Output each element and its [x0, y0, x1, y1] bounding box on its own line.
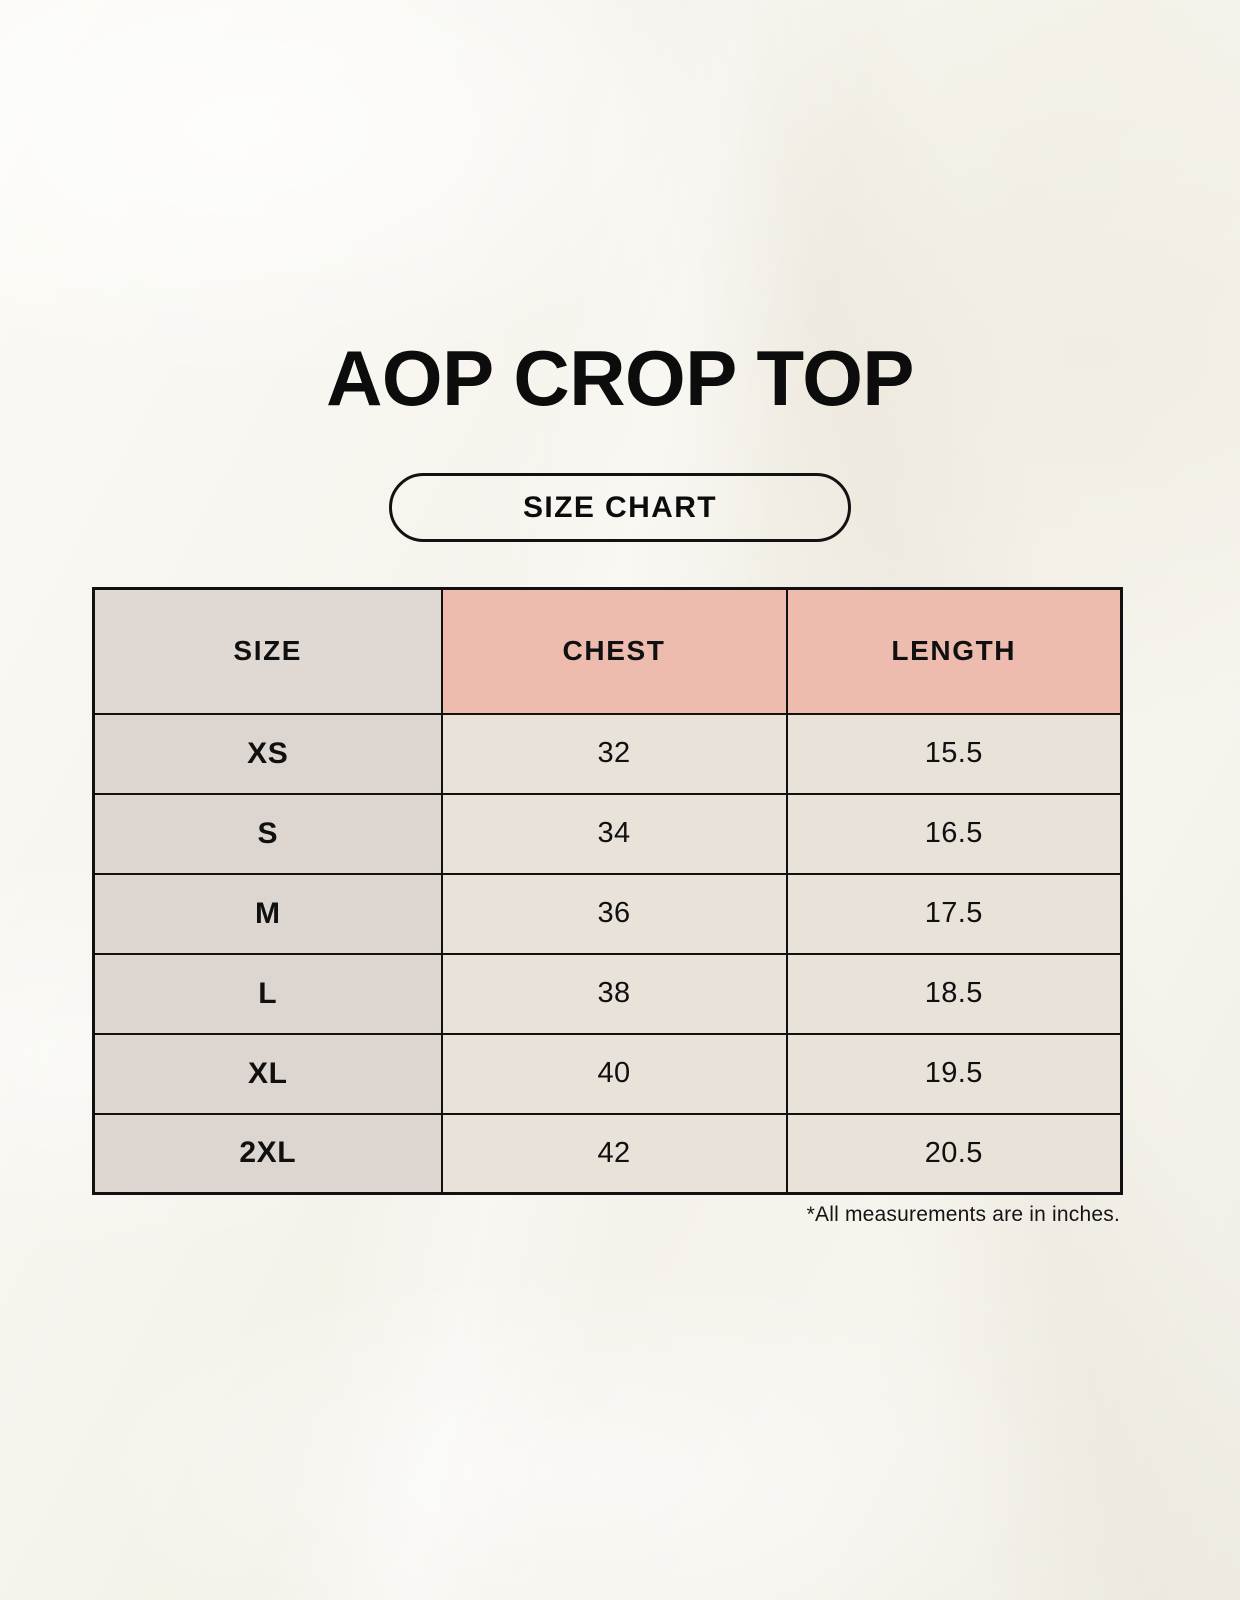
badge-container: SIZE CHART: [0, 473, 1240, 542]
cell-size-m: M: [94, 874, 442, 954]
table-row: 2XL 42 20.5: [94, 1114, 1122, 1194]
cell-size-2xl: 2XL: [94, 1114, 442, 1194]
table-row: XS 32 15.5: [94, 714, 1122, 794]
cell-chest-l: 38: [442, 954, 787, 1034]
table-row: XL 40 19.5: [94, 1034, 1122, 1114]
cell-size-xs: XS: [94, 714, 442, 794]
table-body: XS 32 15.5 S 34 16.5 M 36 17.5 L 38: [94, 714, 1122, 1194]
size-chart-page: AOP CROP TOP SIZE CHART SIZE CHEST LENGT…: [0, 0, 1240, 1600]
cell-length-m: 17.5: [787, 874, 1122, 954]
cell-size-xl: XL: [94, 1034, 442, 1114]
size-chart-table-container: SIZE CHEST LENGTH XS 32 15.5 S 34 16.5 M: [92, 587, 1120, 1195]
cell-length-xl: 19.5: [787, 1034, 1122, 1114]
cell-chest-m: 36: [442, 874, 787, 954]
measurement-footnote: *All measurements are in inches.: [92, 1203, 1120, 1227]
cell-length-s: 16.5: [787, 794, 1122, 874]
cell-length-2xl: 20.5: [787, 1114, 1122, 1194]
cell-chest-s: 34: [442, 794, 787, 874]
cell-chest-xl: 40: [442, 1034, 787, 1114]
cell-chest-xs: 32: [442, 714, 787, 794]
table-row: L 38 18.5: [94, 954, 1122, 1034]
table-row: M 36 17.5: [94, 874, 1122, 954]
cell-size-s: S: [94, 794, 442, 874]
cell-length-l: 18.5: [787, 954, 1122, 1034]
size-chart-table: SIZE CHEST LENGTH XS 32 15.5 S 34 16.5 M: [92, 587, 1123, 1195]
table-row: S 34 16.5: [94, 794, 1122, 874]
table-header: SIZE CHEST LENGTH: [94, 589, 1122, 714]
size-chart-badge: SIZE CHART: [389, 473, 851, 542]
column-header-size: SIZE: [94, 589, 442, 714]
cell-size-l: L: [94, 954, 442, 1034]
page-title: AOP CROP TOP: [0, 339, 1240, 417]
column-header-length: LENGTH: [787, 589, 1122, 714]
column-header-chest: CHEST: [442, 589, 787, 714]
table-header-row: SIZE CHEST LENGTH: [94, 589, 1122, 714]
cell-length-xs: 15.5: [787, 714, 1122, 794]
cell-chest-2xl: 42: [442, 1114, 787, 1194]
